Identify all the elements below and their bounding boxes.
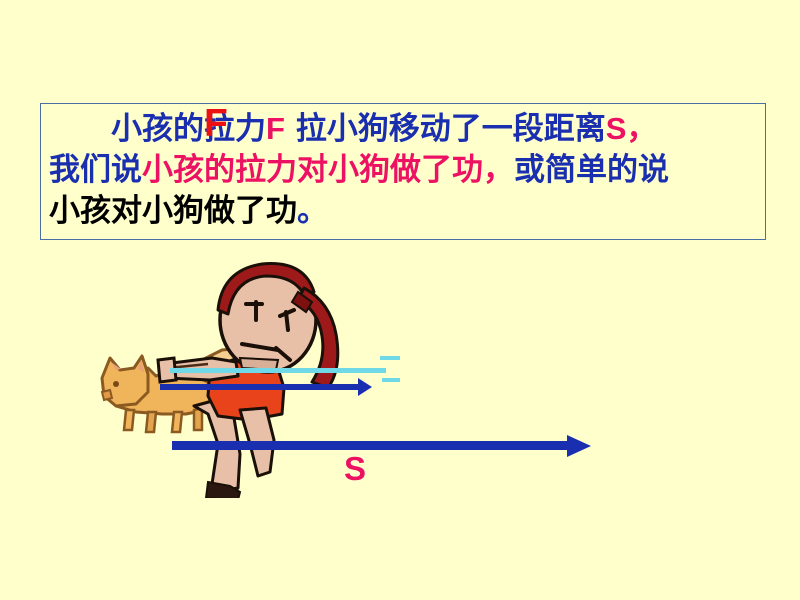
line2-seg3: 或简单的说 — [514, 152, 669, 188]
statement-line-1: 小孩的拉力F 拉小狗移动了一段距离S， — [49, 108, 763, 150]
force-arrow-shaft — [160, 384, 365, 390]
line1-distance-symbol: S — [606, 111, 627, 146]
distance-arrow-head — [567, 435, 591, 457]
leash-tick-upper — [380, 356, 400, 360]
line2-seg1: 我们说 — [49, 152, 142, 188]
distance-arrow — [172, 436, 597, 456]
line2-highlight: 小孩的拉力对小狗做了功， — [142, 152, 514, 188]
force-arrow-label: F — [204, 104, 228, 143]
statement-text-box: 小孩的拉力F 拉小狗移动了一段距离S， 我们说小孩的拉力对小狗做了功，或简单的说… — [40, 103, 766, 240]
leash-line — [170, 368, 386, 373]
dog-eye — [113, 381, 119, 387]
line1-force-symbol: F — [266, 111, 285, 146]
line1-seg1: 小孩的拉力 — [111, 111, 266, 147]
slide-canvas: 小孩的拉力F 拉小狗移动了一段距离S， 我们说小孩的拉力对小狗做了功，或简单的说… — [0, 0, 800, 600]
force-arrow-head — [358, 378, 372, 396]
line3-period: 。 — [297, 193, 328, 229]
distance-arrow-shaft — [172, 441, 572, 450]
line1-seg3: 拉小狗移动了一段距离 — [285, 111, 606, 147]
statement-line-2: 我们说小孩的拉力对小狗做了功，或简单的说 — [49, 150, 763, 191]
distance-arrow-label: S — [344, 452, 366, 485]
statement-line-3: 小孩对小狗做了功。 — [49, 191, 763, 232]
force-arrow — [160, 376, 395, 398]
line1-comma: ， — [626, 111, 657, 147]
line3-seg1: 小孩对小狗做了功 — [49, 193, 297, 229]
